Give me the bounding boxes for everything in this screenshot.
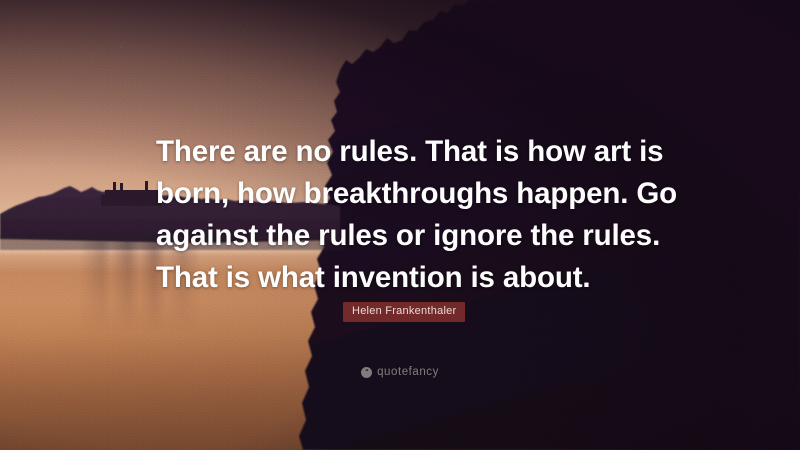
author-name-badge[interactable]: Helen Frankenthaler: [343, 302, 465, 322]
quotefancy-watermark[interactable]: “ quotefancy: [0, 366, 800, 378]
quote-text: There are no rules. That is how art is b…: [156, 131, 676, 299]
quote-line: That is what invention is about.: [156, 257, 676, 299]
quote-line: against the rules or ignore the rules.: [156, 215, 676, 257]
quote-mark-logo-icon: “: [361, 367, 372, 378]
poster-content: There are no rules. That is how art is b…: [0, 0, 800, 450]
quote-poster: There are no rules. That is how art is b…: [0, 0, 800, 450]
watermark-brand-label: quotefancy: [377, 366, 439, 378]
quote-line: There are no rules. That is how art is: [156, 131, 676, 173]
quote-line: born, how breakthroughs happen. Go: [156, 173, 676, 215]
